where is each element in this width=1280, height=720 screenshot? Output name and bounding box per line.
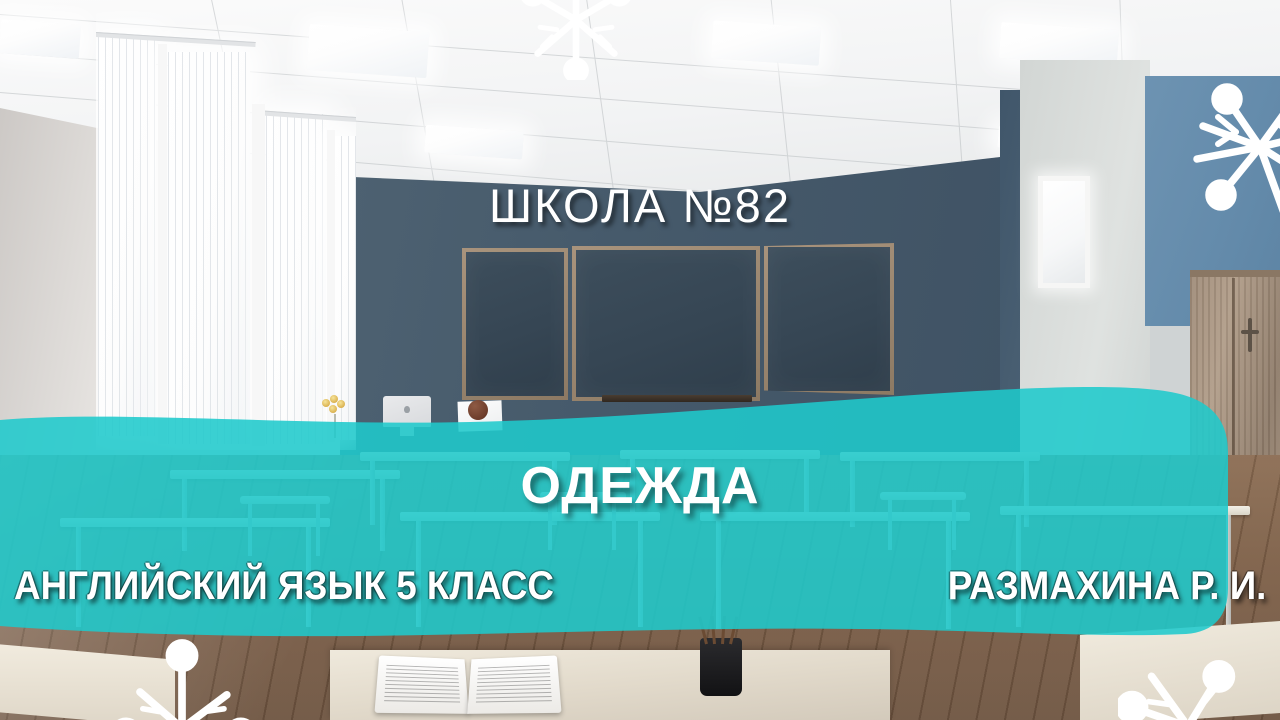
ceiling-light-panel (0, 19, 81, 58)
foreground-desk-right (1080, 621, 1280, 720)
vertical-blinds (168, 52, 250, 444)
chalkboard-panel-left (462, 248, 568, 400)
vertical-blinds (98, 36, 156, 436)
chalkboard-panel-right (764, 243, 894, 395)
globe (468, 400, 488, 420)
open-book (378, 655, 558, 713)
imac-stand (400, 427, 414, 436)
teacher-name-label: РАЗМАХИНА Р. И. (947, 564, 1266, 609)
vertical-blinds (266, 114, 326, 444)
window-mullion (252, 104, 265, 446)
chalkboard (462, 243, 894, 403)
apple-logo-icon (404, 406, 410, 413)
flower-stem (334, 414, 336, 438)
window-pane (98, 36, 156, 436)
presentation-slide: ШКОЛА №82 ОДЕЖДА АНГЛИЙСКИЙ ЯЗЫК 5 КЛАСС… (0, 0, 1280, 720)
window-mullion (158, 44, 167, 444)
ceiling-light-panel (711, 20, 821, 65)
school-title: ШКОЛА №82 (0, 178, 1280, 233)
window-pane (168, 52, 250, 444)
subject-and-grade-label: АНГЛИЙСКИЙ ЯЗЫК 5 КЛАСС (14, 564, 554, 609)
chalk-tray (602, 395, 752, 402)
door-handle (1248, 318, 1252, 352)
window-pane (266, 114, 326, 444)
classroom-background-photo (0, 0, 1280, 720)
chalkboard-panel-center (572, 246, 760, 401)
lesson-topic-title: ОДЕЖДА (0, 456, 1280, 516)
pencil-cup (700, 638, 742, 696)
